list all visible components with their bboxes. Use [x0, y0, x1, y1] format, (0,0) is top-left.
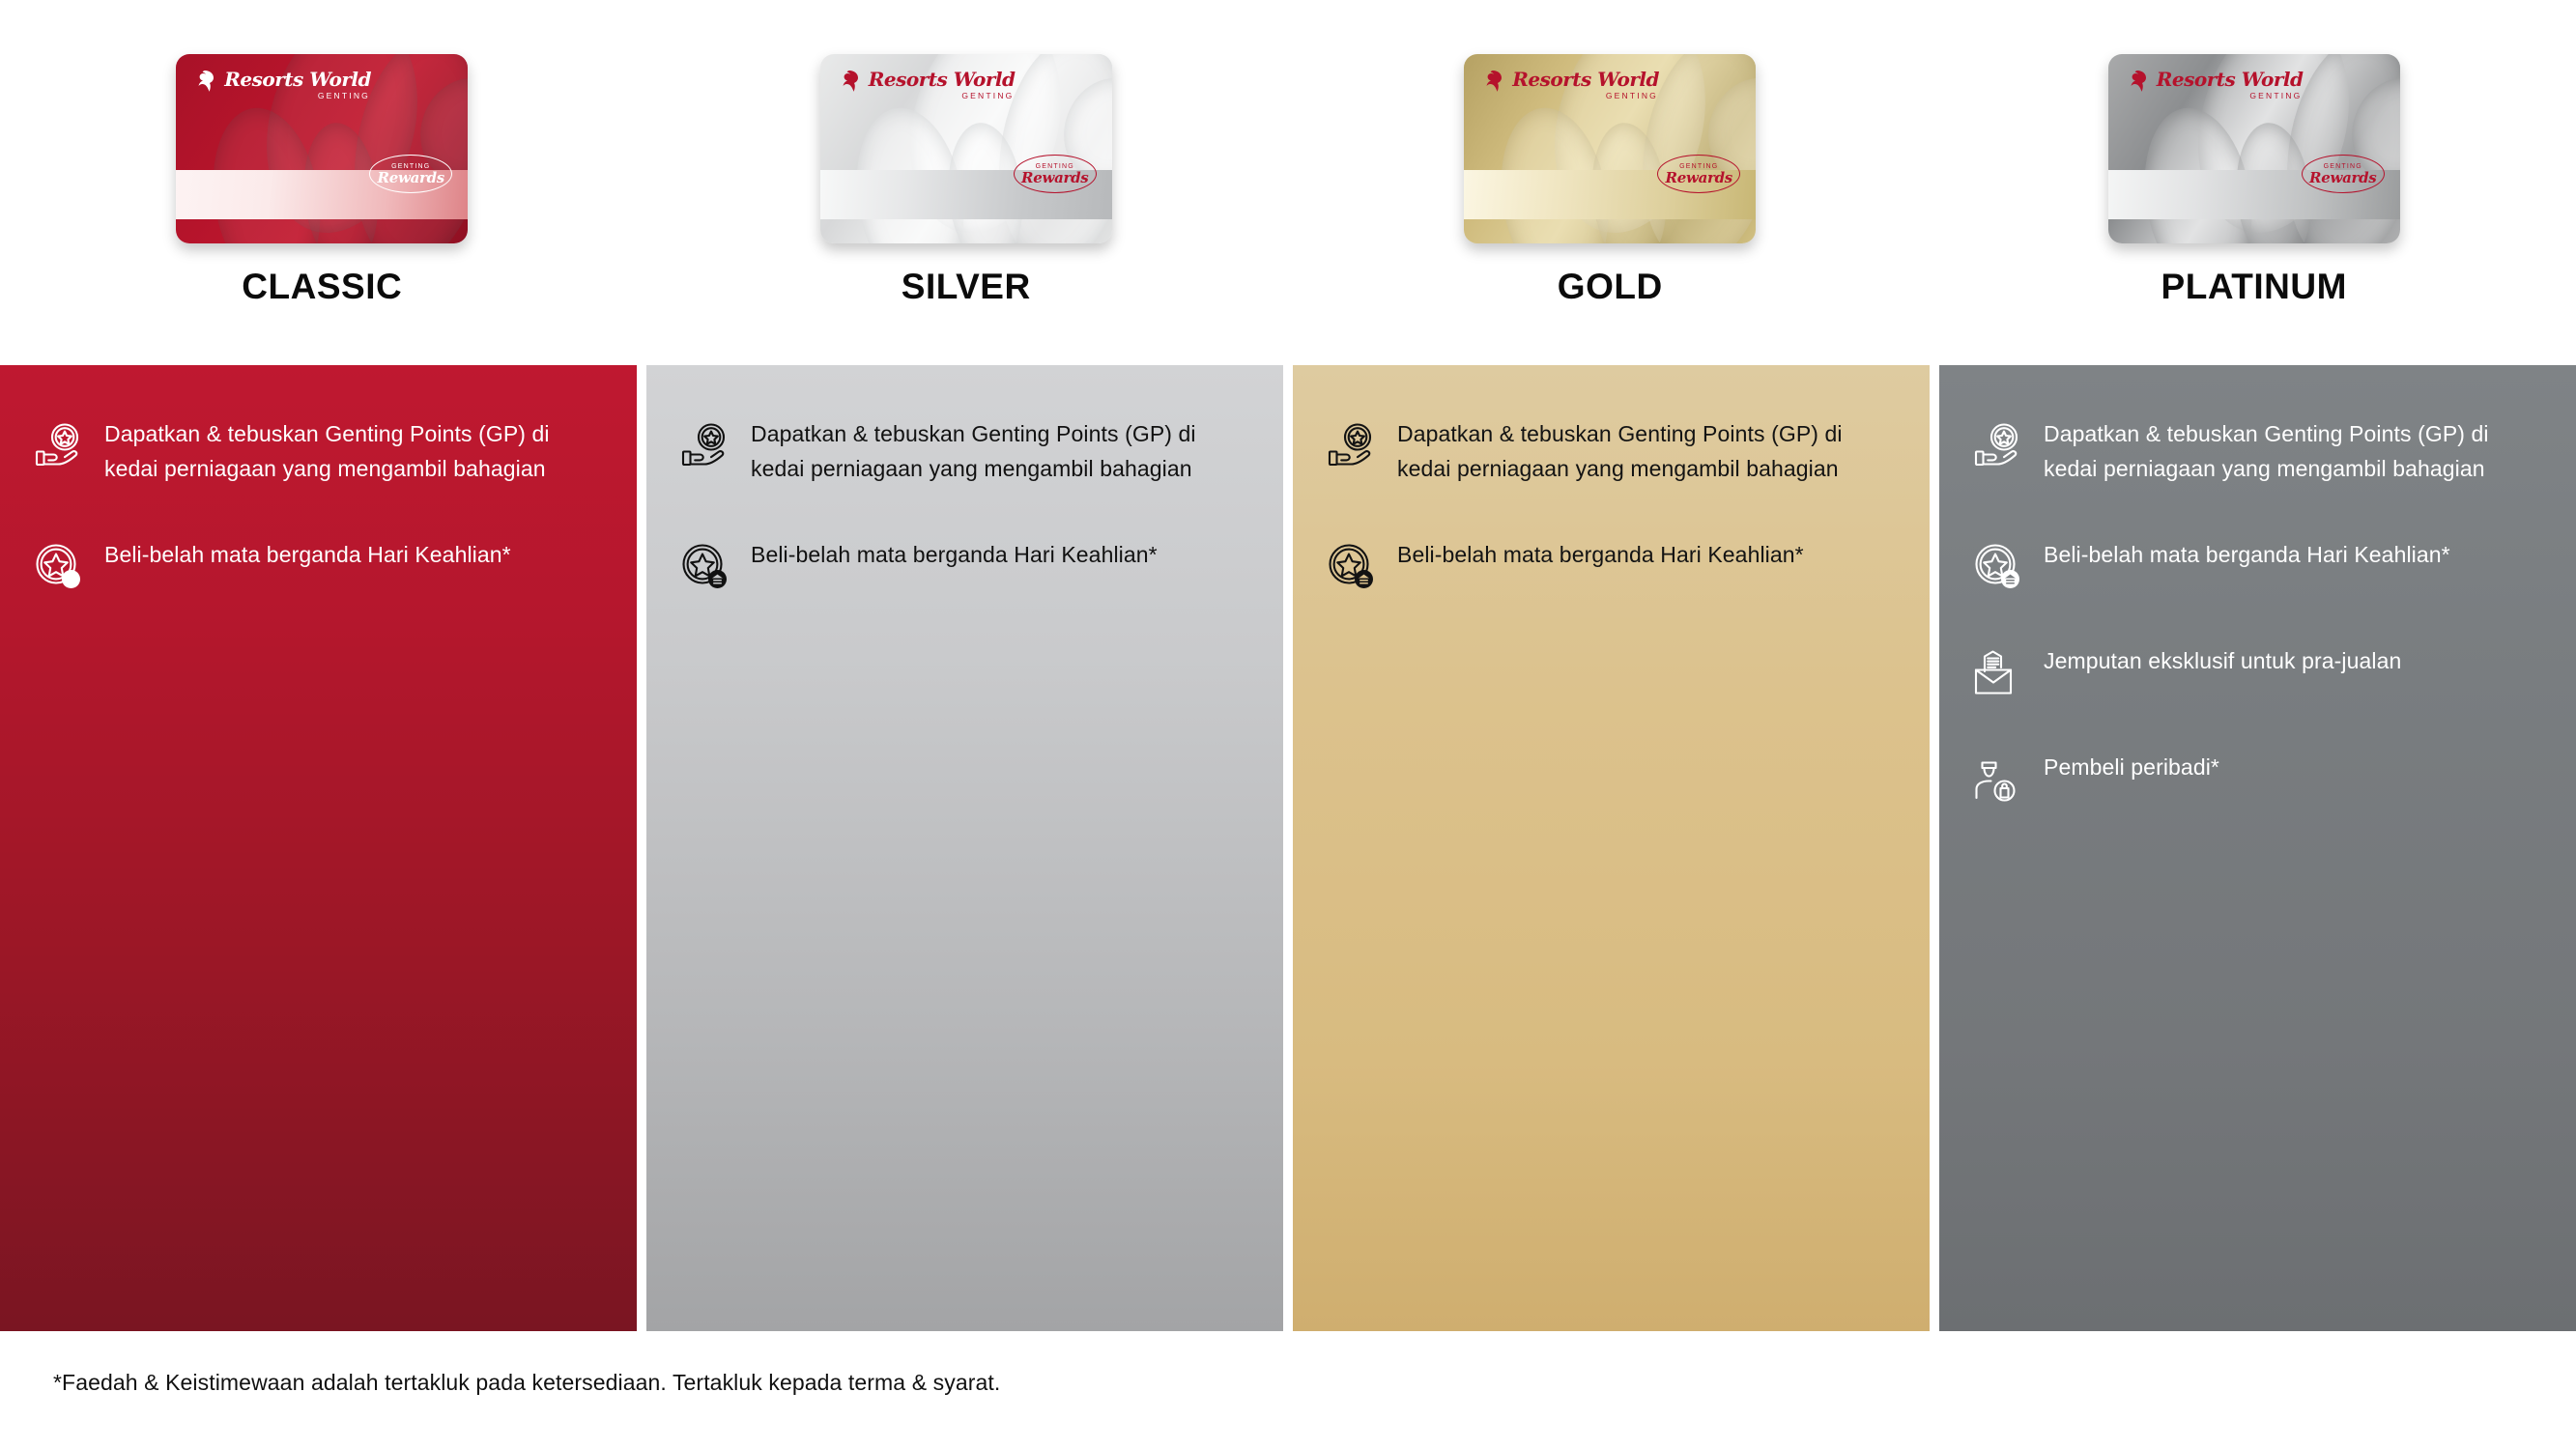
membership-card-platinum: Resorts World GENTING GENTING Rewards — [2108, 54, 2400, 243]
star-badge-icon — [679, 540, 731, 592]
membership-tier-comparison: Resorts World GENTING GENTING Rewards CL… — [0, 0, 2576, 1449]
benefit-item: Dapatkan & tebuskan Genting Points (GP) … — [1972, 415, 2543, 486]
benefit-text: Dapatkan & tebuskan Genting Points (GP) … — [2044, 415, 2543, 486]
resorts-world-logo: Resorts World GENTING — [2125, 70, 2304, 100]
card-cell-classic: Resorts World GENTING GENTING Rewards CL… — [0, 0, 644, 365]
benefit-panels: Dapatkan & tebuskan Genting Points (GP) … — [0, 365, 2576, 1331]
benefit-item: Pembeli peribadi* — [1972, 749, 2543, 805]
genting-rewards-badge: GENTING Rewards — [1657, 155, 1740, 193]
membership-card-silver: Resorts World GENTING GENTING Rewards — [820, 54, 1112, 243]
genting-rewards-badge: GENTING Rewards — [1014, 155, 1097, 193]
benefit-item: Beli-belah mata berganda Hari Keahlian* — [1972, 536, 2543, 592]
logo-script-text: Resorts World — [2157, 70, 2304, 89]
logo-sub-text: GENTING — [1606, 92, 1658, 100]
benefit-text: Pembeli peribadi* — [2044, 749, 2219, 785]
genting-rewards-badge: GENTING Rewards — [369, 155, 452, 193]
card-row: Resorts World GENTING GENTING Rewards CL… — [0, 0, 2576, 365]
tier-title-gold: GOLD — [1558, 267, 1663, 307]
rewards-badge-main: Rewards — [1021, 171, 1088, 185]
star-badge-icon — [33, 540, 85, 592]
benefit-text: Dapatkan & tebuskan Genting Points (GP) … — [1397, 415, 1897, 486]
logo-script-text: Resorts World — [224, 70, 371, 89]
resorts-world-mark-icon — [192, 70, 217, 93]
benefit-panel-silver: Dapatkan & tebuskan Genting Points (GP) … — [646, 365, 1283, 1331]
benefit-text: Beli-belah mata berganda Hari Keahlian* — [2044, 536, 2450, 573]
benefit-item: Jemputan eksklusif untuk pra-jualan — [1972, 642, 2543, 698]
benefit-item: Beli-belah mata berganda Hari Keahlian* — [679, 536, 1250, 592]
resorts-world-logo: Resorts World GENTING — [1480, 70, 1659, 100]
benefit-panel-platinum: Dapatkan & tebuskan Genting Points (GP) … — [1939, 365, 2576, 1331]
card-cell-silver: Resorts World GENTING GENTING Rewards SI… — [644, 0, 1289, 365]
benefit-text: Dapatkan & tebuskan Genting Points (GP) … — [751, 415, 1250, 486]
logo-script-text: Resorts World — [1512, 70, 1659, 89]
hand-coin-star-icon — [1972, 419, 2024, 471]
benefit-panel-gold: Dapatkan & tebuskan Genting Points (GP) … — [1293, 365, 1930, 1331]
personal-shopper-icon — [1972, 753, 2024, 805]
benefit-text: Dapatkan & tebuskan Genting Points (GP) … — [104, 415, 604, 486]
benefit-text: Beli-belah mata berganda Hari Keahlian* — [751, 536, 1158, 573]
benefit-item: Dapatkan & tebuskan Genting Points (GP) … — [679, 415, 1250, 486]
benefit-item: Beli-belah mata berganda Hari Keahlian* — [1326, 536, 1897, 592]
benefit-item: Beli-belah mata berganda Hari Keahlian* — [33, 536, 604, 592]
hand-coin-star-icon — [679, 419, 731, 471]
logo-script-text: Resorts World — [869, 70, 1016, 89]
benefit-item: Dapatkan & tebuskan Genting Points (GP) … — [33, 415, 604, 486]
footnote-text: *Faedah & Keistimewaan adalah tertakluk … — [53, 1370, 1000, 1396]
benefit-text: Beli-belah mata berganda Hari Keahlian* — [1397, 536, 1804, 573]
tier-title-classic: CLASSIC — [242, 267, 402, 307]
rewards-badge-main: Rewards — [378, 171, 444, 185]
tier-title-silver: SILVER — [902, 267, 1031, 307]
benefit-text: Jemputan eksklusif untuk pra-jualan — [2044, 642, 2401, 679]
tier-title-platinum: PLATINUM — [2161, 267, 2347, 307]
membership-card-gold: Resorts World GENTING GENTING Rewards — [1464, 54, 1756, 243]
resorts-world-mark-icon — [2125, 70, 2150, 93]
star-badge-icon — [1972, 540, 2024, 592]
logo-sub-text: GENTING — [961, 92, 1014, 100]
rewards-badge-main: Rewards — [1666, 171, 1732, 185]
resorts-world-mark-icon — [837, 70, 862, 93]
membership-card-classic: Resorts World GENTING GENTING Rewards — [176, 54, 468, 243]
genting-rewards-badge: GENTING Rewards — [2302, 155, 2385, 193]
resorts-world-logo: Resorts World GENTING — [192, 70, 371, 100]
hand-coin-star-icon — [33, 419, 85, 471]
resorts-world-logo: Resorts World GENTING — [837, 70, 1016, 100]
logo-wordmark: Resorts World GENTING — [2157, 70, 2304, 100]
resorts-world-mark-icon — [1480, 70, 1505, 93]
envelope-icon — [1972, 646, 2024, 698]
benefit-panel-classic: Dapatkan & tebuskan Genting Points (GP) … — [0, 365, 637, 1331]
logo-wordmark: Resorts World GENTING — [1512, 70, 1659, 100]
hand-coin-star-icon — [1326, 419, 1378, 471]
benefit-item: Dapatkan & tebuskan Genting Points (GP) … — [1326, 415, 1897, 486]
logo-wordmark: Resorts World GENTING — [224, 70, 371, 100]
star-badge-icon — [1326, 540, 1378, 592]
rewards-badge-main: Rewards — [2309, 171, 2376, 185]
logo-sub-text: GENTING — [2249, 92, 2302, 100]
benefit-text: Beli-belah mata berganda Hari Keahlian* — [104, 536, 511, 573]
logo-sub-text: GENTING — [318, 92, 370, 100]
logo-wordmark: Resorts World GENTING — [869, 70, 1016, 100]
card-cell-platinum: Resorts World GENTING GENTING Rewards PL… — [1932, 0, 2576, 365]
card-cell-gold: Resorts World GENTING GENTING Rewards GO… — [1288, 0, 1932, 365]
